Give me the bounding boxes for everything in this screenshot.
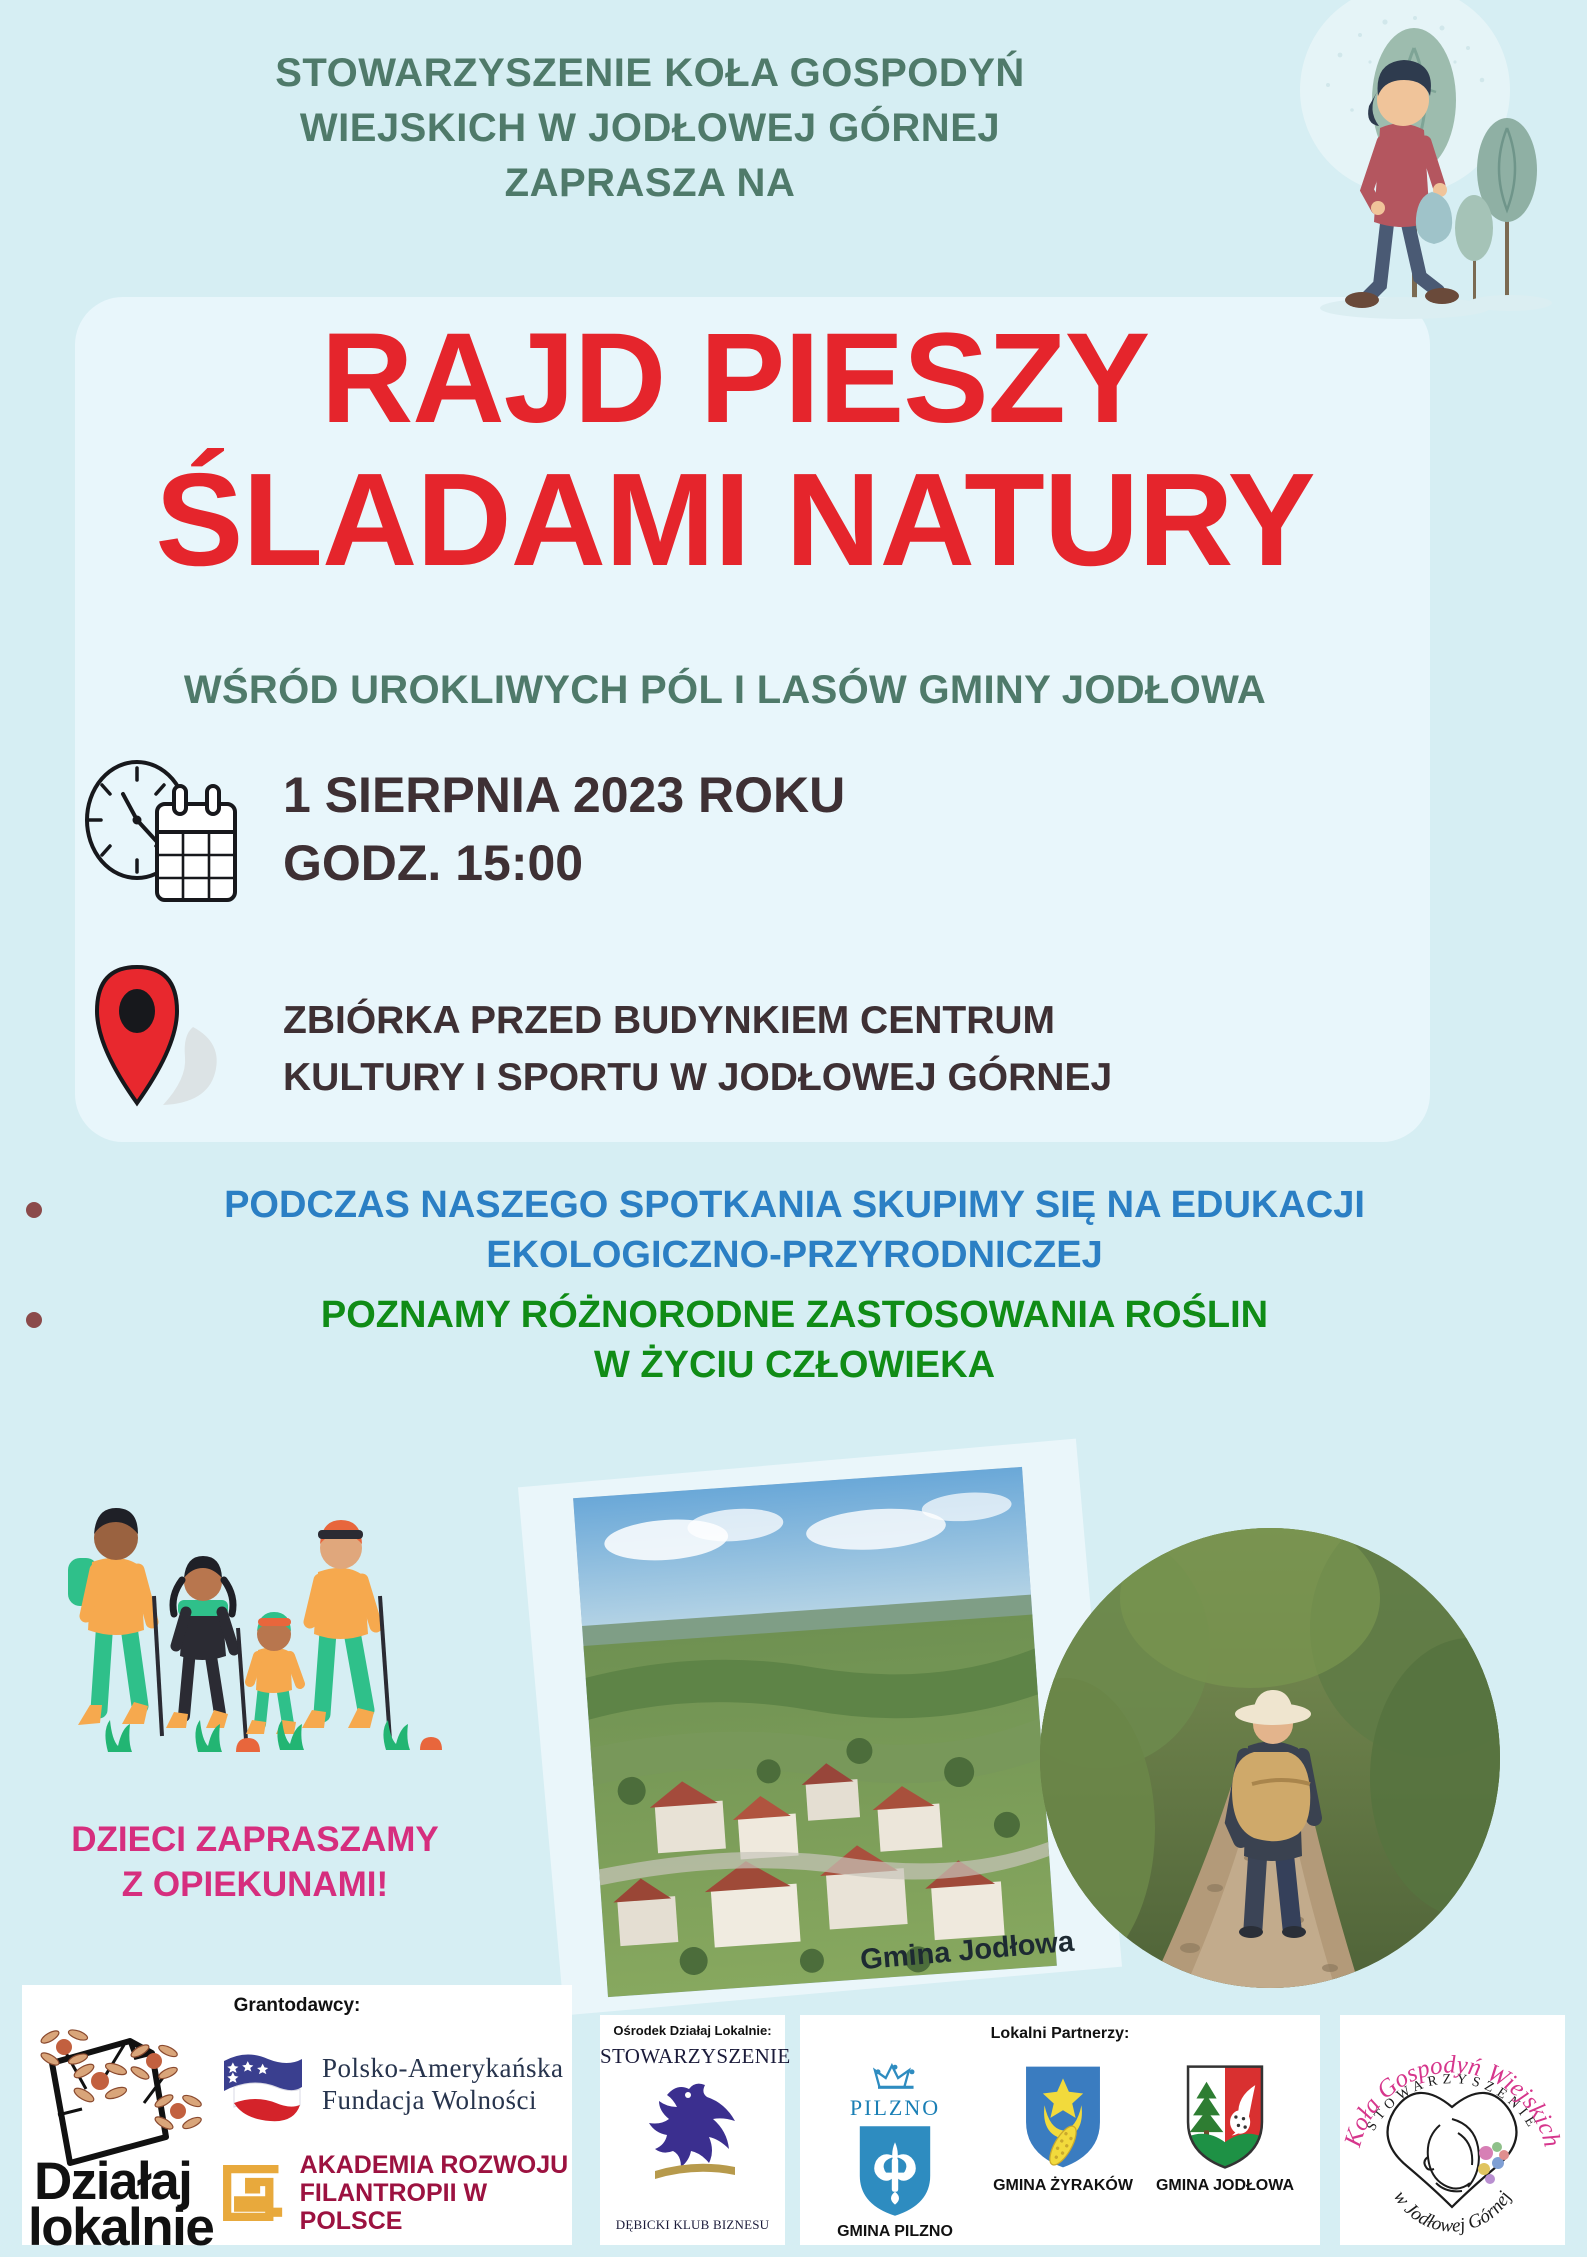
kgw-script-1-text: Koła Gospodyń Wiejskich (1340, 2051, 1565, 2151)
logo-box-partners: Lokalni Partnerzy: PILZNO (800, 2015, 1320, 2245)
paff-flag-icon (218, 2045, 308, 2123)
partners-heading: Lokalni Partnerzy: (800, 2015, 1320, 2043)
aerial-village-photo (573, 1467, 1057, 1997)
dkb-griffin-icon (633, 2071, 753, 2191)
title-line-2: ŚLADAMI NATURY (0, 457, 1470, 584)
event-location-row: ZBIÓRKA PRZED BUDYNKIEM CENTRUM KULTURY … (75, 955, 1375, 1115)
location-line-2: KULTURY I SPORTU W JODŁOWEJ GÓRNEJ (283, 1050, 1112, 1107)
header-line-3: ZAPRASZA NA (0, 156, 1300, 211)
event-title: RAJD PIESZY ŚLADAMI NATURY (0, 318, 1470, 584)
pilzno-shield-icon (854, 2123, 936, 2219)
event-subtitle: WŚRÓD UROKLIWYCH PÓL I LASÓW GMINY JODŁO… (0, 668, 1450, 713)
kgw-script-2-text: w Jodłowej Górnej (1389, 2187, 1516, 2237)
paff-name-line-1: Polsko-Amerykańska (322, 2052, 563, 2084)
event-date-row: 1 SIERPNIA 2023 ROKU GODZ. 15:00 (75, 740, 1375, 912)
dzialaj-word-2: lokalnie (28, 2205, 213, 2251)
title-line-1: RAJD PIESZY (0, 318, 1470, 441)
arfp-name-line-2: FILANTROPII W POLSCE (300, 2179, 572, 2235)
bullet-1-line-2: EKOLOGICZNO-PRZYRODNICZEJ (42, 1230, 1547, 1280)
bullet-1-line-1: PODCZAS NASZEGO SPOTKANIA SKUPIMY SIĘ NA… (42, 1180, 1547, 1230)
pilzno-word: PILZNO (822, 2095, 968, 2121)
program-bullets: PODCZAS NASZEGO SPOTKANIA SKUPIMY SIĘ NA… (0, 1180, 1587, 1401)
kids-invitation-caption: DZIECI ZAPRASZAMY Z OPIEKUNAMI! (40, 1818, 470, 1908)
bullet-dot-icon (26, 1202, 42, 1218)
kids-caption-line-1: DZIECI ZAPRASZAMY (40, 1818, 470, 1863)
location-line-1: ZBIÓRKA PRZED BUDYNKIEM CENTRUM (283, 993, 1112, 1050)
map-pin-icon (75, 955, 245, 1115)
gmina-zyrakow-logo: GMINA ŻYRAKÓW (990, 2063, 1136, 2195)
kgw-emblem-icon: STOWARZYSZENIE Koła Gospodyń Wiejskich (1340, 2015, 1565, 2245)
dkb-name: DĘBICKI KLUB BIZNESU (600, 2217, 785, 2233)
gmina-jodlowa-label: GMINA JODŁOWA (1152, 2177, 1298, 2195)
dzialaj-lokalnie-logo: Działaj lokalnie (28, 2019, 218, 2239)
grantodawcy-heading: Grantodawcy: (22, 1985, 572, 2017)
osrodek-name: STOWARZYSZENIE (600, 2044, 785, 2069)
svg-text:w Jodłowej Górnej: w Jodłowej Górnej (1389, 2187, 1516, 2237)
event-date-text: 1 SIERPNIA 2023 ROKU GODZ. 15:00 (283, 762, 845, 897)
gmina-jodlowa-logo: GMINA JODŁOWA (1152, 2063, 1298, 2195)
kids-caption-line-2: Z OPIEKUNAMI! (40, 1863, 470, 1908)
organizer-header: STOWARZYSZENIE KOŁA GOSPODYŃ WIEJSKICH W… (0, 46, 1300, 212)
logo-box-grantodawcy: Grantodawcy: (22, 1985, 572, 2245)
bullet-text-1: PODCZAS NASZEGO SPOTKANIA SKUPIMY SIĘ NA… (42, 1180, 1587, 1280)
hiker-on-trail-photo (1040, 1528, 1500, 1988)
arfp-mark-icon (218, 2159, 288, 2227)
header-line-1: STOWARZYSZENIE KOŁA GOSPODYŃ (0, 46, 1300, 101)
header-line-2: WIEJSKICH W JODŁOWEJ GÓRNEJ (0, 101, 1300, 156)
clock-calendar-icon (75, 752, 245, 912)
event-time-line: GODZ. 15:00 (283, 830, 845, 898)
svg-text:Koła Gospodyń Wiejskich: Koła Gospodyń Wiejskich (1340, 2051, 1565, 2151)
osrodek-heading: Ośrodek Działaj Lokalnie: (600, 2015, 785, 2038)
bullet-dot-icon (26, 1312, 42, 1328)
list-item: PODCZAS NASZEGO SPOTKANIA SKUPIMY SIĘ NA… (0, 1180, 1587, 1280)
gmina-zyrakow-label: GMINA ŻYRAKÓW (990, 2177, 1136, 2195)
pilzno-crown-icon (835, 2061, 955, 2095)
list-item: POZNAMY RÓŻNORODNE ZASTOSOWANIA ROŚLIN W… (0, 1290, 1587, 1390)
zyrakow-shield-icon (1021, 2063, 1105, 2171)
logo-box-osrodek: Ośrodek Działaj Lokalnie: STOWARZYSZENIE… (600, 2015, 785, 2245)
bullet-2-line-2: W ŻYCIU CZŁOWIEKA (42, 1340, 1547, 1390)
gmina-pilzno-label: GMINA PILZNO (822, 2223, 968, 2241)
jodlowa-shield-icon (1183, 2063, 1267, 2171)
event-location-text: ZBIÓRKA PRZED BUDYNKIEM CENTRUM KULTURY … (283, 993, 1112, 1106)
paff-logo: Polsko-Amerykańska Fundacja Wolności (218, 2045, 563, 2123)
paff-name-line-2: Fundacja Wolności (322, 2084, 563, 2116)
arfp-name-line-1: AKADEMIA ROZWOJU (300, 2151, 572, 2179)
hiking-family-illustration (50, 1500, 510, 1800)
gmina-pilzno-logo: PILZNO GMINA PILZNO (822, 2061, 968, 2241)
logo-box-kgw: STOWARZYSZENIE Koła Gospodyń Wiejskich (1340, 2015, 1565, 2245)
bullet-2-line-1: POZNAMY RÓŻNORODNE ZASTOSOWANIA ROŚLIN (42, 1290, 1547, 1340)
bullet-text-2: POZNAMY RÓŻNORODNE ZASTOSOWANIA ROŚLIN W… (42, 1290, 1587, 1390)
event-date-line-1: 1 SIERPNIA 2023 ROKU (283, 762, 845, 830)
arfp-logo: AKADEMIA ROZWOJU FILANTROPII W POLSCE (218, 2151, 572, 2235)
logo-strip: Grantodawcy: (0, 1945, 1587, 2245)
